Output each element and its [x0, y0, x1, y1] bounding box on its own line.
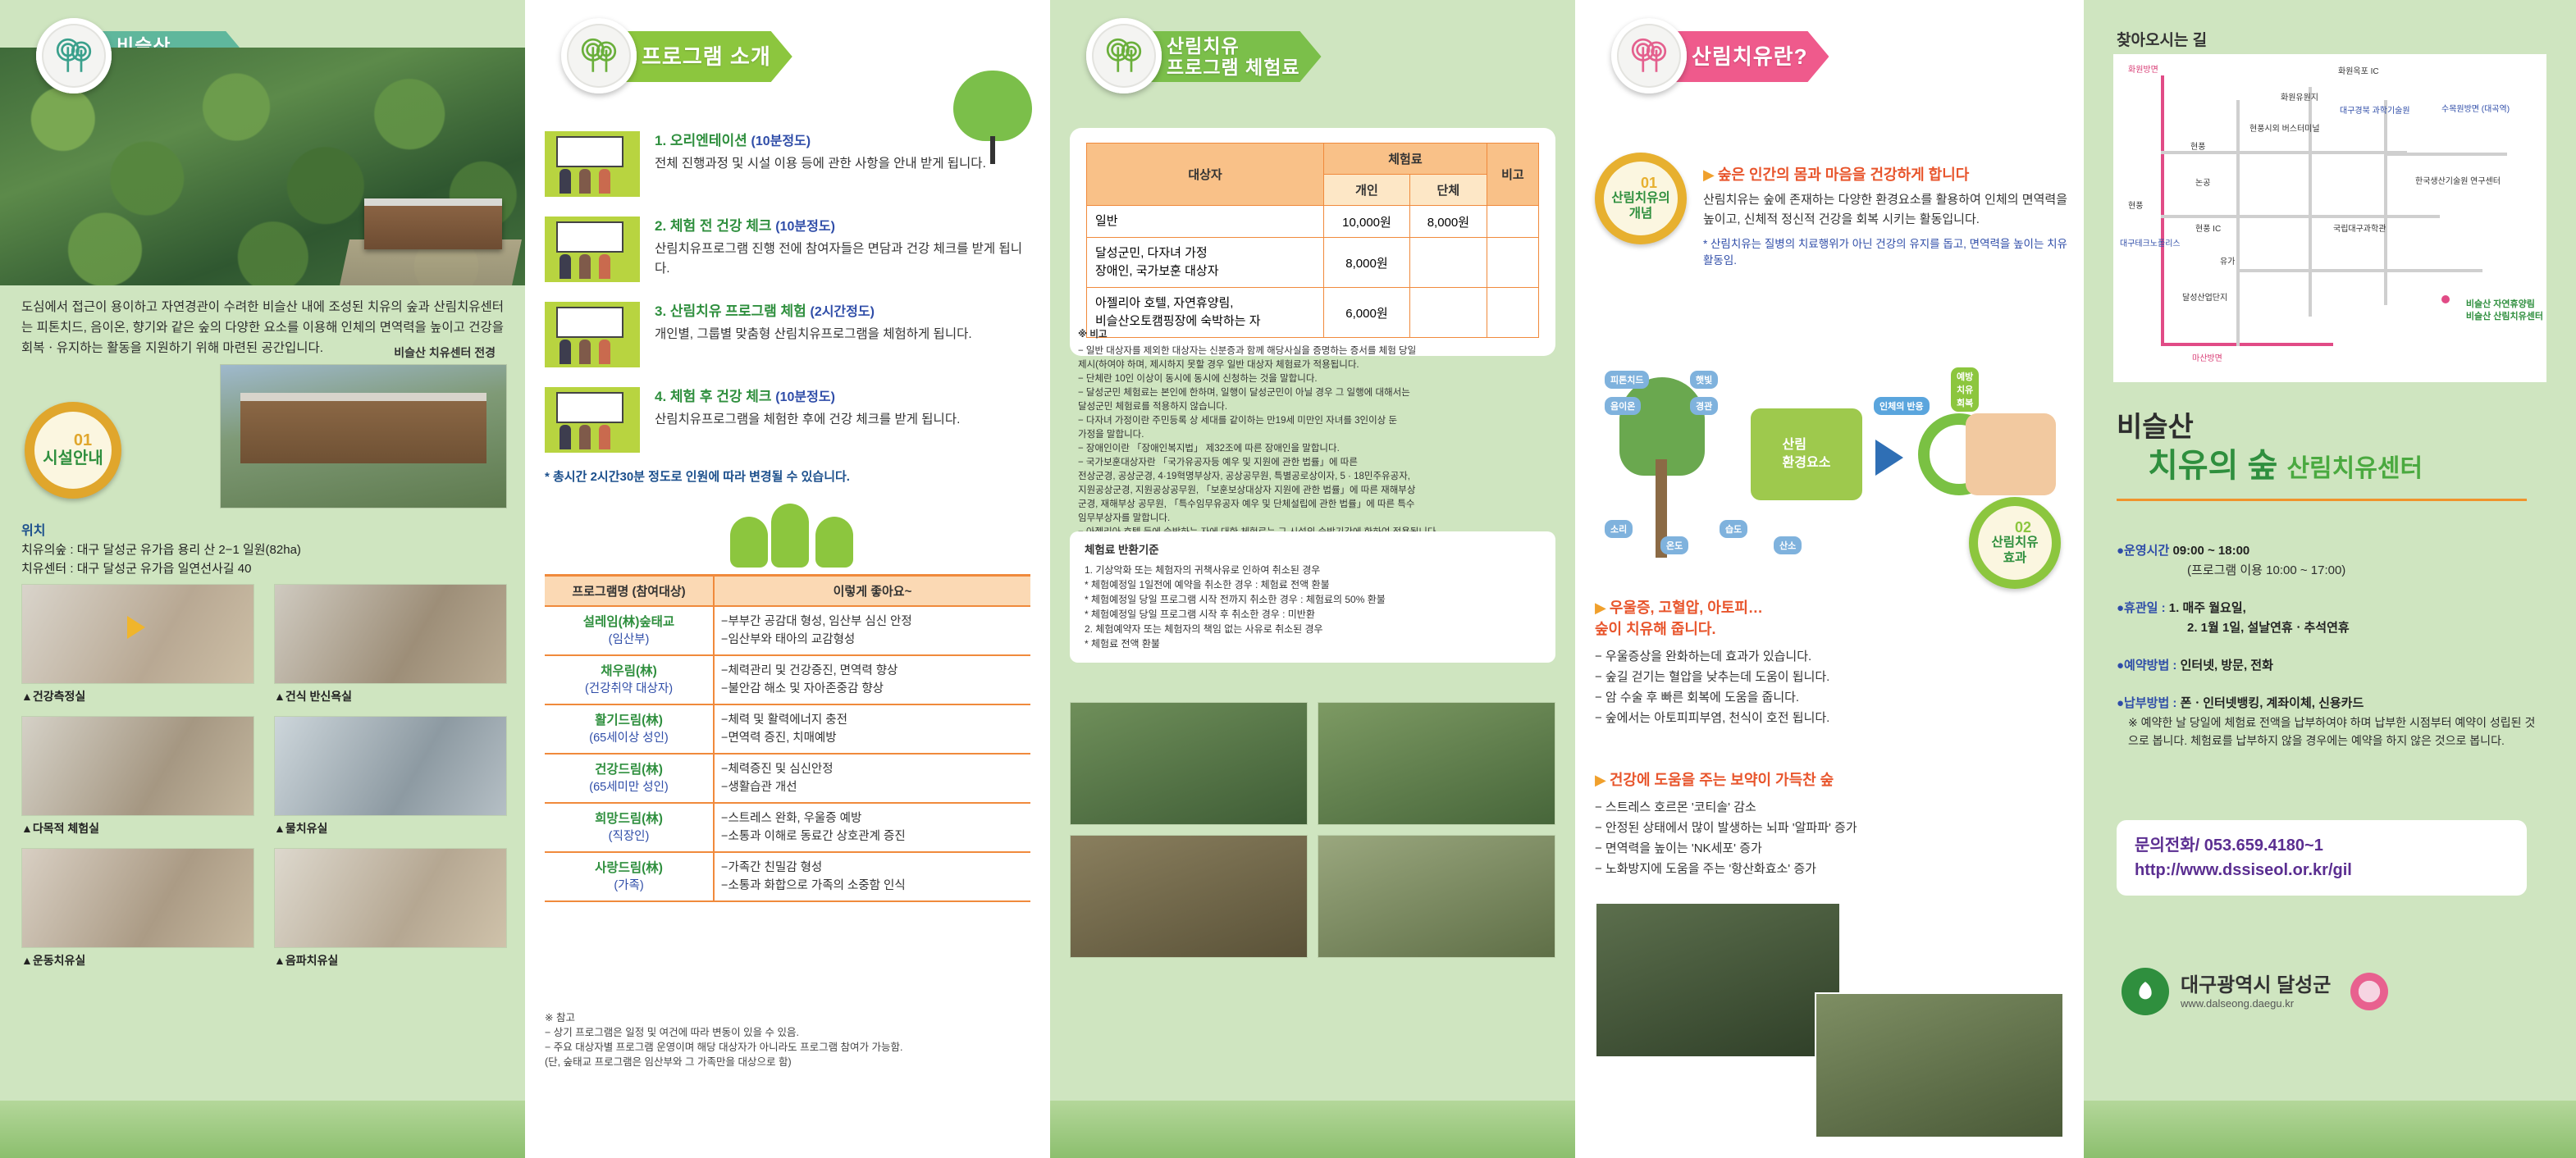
effect1-heading: 우울증, 고혈압, 아토피… 숲이 치유해 줍니다. [1595, 600, 1763, 637]
contact-box: 문의전화/ 053.659.4180~1 http://www.dssiseol… [2117, 820, 2527, 896]
step-title: 1. 오리엔테이션 [655, 133, 747, 148]
list-item: ▲운동치유실 [21, 848, 254, 969]
hours-value: 09:00 ~ 18:00 [2172, 544, 2249, 558]
program-benefits: −가족간 친밀감 형성 −소통과 화합으로 가족의 소중함 인식 [714, 852, 1030, 901]
step-duration: (2시간정도) [810, 305, 874, 319]
refund-line: * 체험예정일 당일 프로그램 시작 전까지 취소한 경우 : 체험료의 50%… [1085, 592, 1541, 607]
step-body: 개인별, 그룹별 맞춤형 산림치유프로그램을 체험하게 됩니다. [655, 325, 1030, 344]
panel3-header: 산림치유 프로그램 체험료 [1050, 15, 1575, 93]
panel3-title-line1: 산림치유 [1167, 35, 1300, 57]
photo-water-therapy-room [274, 716, 507, 816]
step-illustration-health-check [545, 217, 640, 282]
program-name: 건강드림(林) [551, 761, 706, 779]
list-item: 3. 산림치유 프로그램 체험 (2시간정도) 개인별, 그룹별 맞춤형 산림치… [545, 302, 1030, 367]
fee-header-group: 단체 [1409, 175, 1487, 206]
center-building [364, 198, 502, 249]
facility-photo-caption: 비슬산 치유센터 전경 [394, 344, 496, 361]
hours-sub: (프로그램 이용 10:00 ~ 17:00) [2117, 561, 2543, 581]
photo-caption: ▲음파치유실 [274, 952, 507, 969]
map-label: 화원옥포 IC [2338, 64, 2379, 76]
note-line: − 다자녀 가정이란 주민등록 상 세대를 같이하는 만19세 미만인 자녀를 … [1078, 414, 1551, 428]
concept-note: * 산림치유는 질병의 치료행위가 아닌 건강의 유지를 돕고, 면역력을 높이… [1703, 236, 2067, 269]
table-row: 채우림(林) (건강취약 대상자) −체력관리 및 건강증진, 면역력 향상 −… [545, 655, 1030, 704]
panel2-title: 프로그램 소개 [642, 31, 771, 82]
note-line: − 단체란 10인 이상이 동시에 동시에 신청하는 것을 말합니다. [1078, 372, 1551, 386]
chip-label: 산소 [1774, 536, 1802, 554]
program-steps-list: 1. 오리엔테이션 (10분정도) 전체 진행과정 및 시설 이용 등에 관한 … [545, 131, 1030, 472]
panel4-title: 산림치유란? [1692, 31, 1807, 82]
chip-label: 소리 [1605, 520, 1633, 538]
refund-policy-box: 체험료 반환기준 1. 기상악화 또는 체험자의 귀책사유로 인하여 취소된 경… [1070, 531, 1555, 663]
payment-label: ●납부방법 : [2117, 696, 2176, 710]
note-line: 가정을 말합니다. [1078, 428, 1551, 442]
step-illustration-post-check [545, 387, 640, 453]
map-label: 대구경북 과학기술원 [2340, 103, 2410, 116]
effect2-item: − 스트레스 호르몬 '코티솔' 감소 [1595, 797, 2021, 818]
flower-mascot-icon [2350, 973, 2388, 1010]
activity-photo [1070, 702, 1308, 825]
booking-value: 인터넷, 방문, 전화 [2181, 659, 2273, 672]
program-name: 활기드림(林) [551, 712, 706, 730]
effect1-item: − 숲에서는 아토피피부염, 천식이 호전 됩니다. [1595, 708, 1939, 728]
table-header-benefit: 이렇게 좋아요~ [714, 576, 1030, 607]
step-illustration-forest-program [545, 302, 640, 367]
list-item: 4. 체험 후 건강 체크 (10분정도) 산림치유프로그램을 체험한 후에 건… [545, 387, 1030, 453]
program-target: (직장인) [551, 828, 706, 846]
table-row: 건강드림(林) (65세미만 성인) −체력증진 및 심신안정 −생활습관 개선 [545, 754, 1030, 803]
list-item: ▲다목적 체험실 [21, 716, 254, 837]
chip-label: 햇빛 [1690, 371, 1718, 389]
infographic-reaction-label: 인체의 반응 [1874, 397, 1930, 415]
booking-label: ●예약방법 : [2117, 659, 2176, 672]
map-label: 현풍 [2128, 198, 2143, 211]
chip-label: 피톤치드 [1605, 371, 1649, 389]
brand-line2: 치유의 숲 [2148, 448, 2277, 484]
note-line: 지원공상군경, 지원공상공무원, 「보훈보상대상자 지원에 관한 법률」에 따른… [1078, 484, 1551, 498]
government-logo: 대구광역시 달성군 www.dalseong.daegu.kr [2122, 968, 2388, 1015]
table-row: 일반 10,000원 8,000원 [1087, 206, 1539, 238]
map-label: 국립대구과학관 [2333, 221, 2386, 234]
closed-label: ●휴관일 : [2117, 601, 2166, 615]
divider [2117, 499, 2527, 501]
photo-exercise-therapy-room [21, 848, 254, 948]
contact-phone[interactable]: 문의전화/ 053.659.4180~1 [2135, 833, 2509, 858]
list-item: 1. 오리엔테이션 (10분정도) 전체 진행과정 및 시설 이용 등에 관한 … [545, 131, 1030, 197]
note-line: − 장애인이란 「장애인복지법」 제32조에 따른 장애인을 말합니다. [1078, 442, 1551, 456]
brand-line1: 비슬산 [2117, 410, 2527, 445]
map-label: 수목원방면 (대곡역) [2441, 102, 2510, 114]
map-label: 달성산업단지 [2182, 290, 2227, 303]
tree-logo-icon [36, 18, 112, 93]
program-name: 채우림(林) [551, 663, 706, 681]
effect2-heading: 건강에 도움을 주는 보약이 가득찬 숲 [1610, 772, 1834, 788]
map-label: 현풍 IC [2195, 221, 2221, 234]
fee-individual: 8,000원 [1324, 238, 1410, 288]
photo-multipurpose-room [21, 716, 254, 816]
triangle-bullet-icon: ▶ [1595, 600, 1606, 616]
activity-photo [1318, 835, 1555, 958]
map-label: 현풍시외 버스터미널 [2249, 121, 2320, 134]
map-label: 화원방면 [2128, 62, 2158, 75]
badge-effect: 02 산림치유 효과 [1969, 497, 2061, 595]
fee-header-remark: 비고 [1487, 144, 1538, 206]
effect1-item: − 우울증상을 완화하는데 효과가 있습니다. [1595, 646, 1939, 667]
bottom-hill-decoration [0, 1101, 525, 1158]
gov-name: 대구광역시 달성군 [2181, 974, 2331, 997]
refund-line: 2. 체험예약자 또는 체험자의 책임 없는 사유로 취소된 경우 [1085, 622, 1541, 636]
location-line-2: 치유센터 : 대구 달성군 유가읍 일연선사길 40 [21, 559, 301, 578]
step-duration: (10분정도) [751, 134, 811, 148]
note-line: 군경, 재해부상 공무원, 「특수임무유공자 예우 및 단체설립에 관한 법률」… [1078, 498, 1551, 512]
note-line: (단, 숲태교 프로그램은 임산부와 그 가족만을 대상으로 함) [545, 1055, 1030, 1069]
map-label: 화원유원지 [2281, 90, 2318, 103]
road-line [2161, 215, 2440, 218]
triangle-bullet-icon: ▶ [1595, 772, 1606, 788]
program-photo [1815, 992, 2064, 1138]
arrow-icon [1875, 440, 1903, 476]
map-destination-line2: 비슬산 산림치유센터 [2466, 312, 2543, 321]
badge-facility-info: 01 시설안내 [25, 402, 121, 505]
effect2-item: − 안정된 상태에서 많이 발생하는 뇌파 '알파파' 증가 [1595, 818, 2021, 838]
map-label: 현풍 [2190, 139, 2205, 152]
table-row: 설레임(林)숲태교 (임산부) −부부간 공감대 형성, 임산부 심신 안정 −… [545, 606, 1030, 655]
step-title: 2. 체험 전 건강 체크 [655, 218, 772, 234]
fee-group: 8,000원 [1409, 206, 1487, 238]
family-illustration [1966, 413, 2056, 495]
infographic-center-label: 산림 환경요소 [1751, 408, 1862, 500]
program-name: 사랑드림(林) [551, 859, 706, 878]
brand-block: 비슬산 치유의 숲 산림치유센터 [2117, 410, 2527, 501]
tree-logo-icon [1086, 18, 1162, 93]
fee-remark [1487, 206, 1538, 238]
refund-line: * 체험예정일 1일전에 예약을 취소한 경우 : 체험료 전액 환불 [1085, 577, 1541, 592]
panel-intro: 비슬산 치유의 숲은? 도심에서 접근이 용이하고 자연경관이 수려한 비슬산 … [0, 0, 525, 1158]
payment-note: ※ 예약한 날 당일에 체험료 전액을 납부하여야 하며 납부한 시점부터 예약… [2117, 713, 2543, 750]
fee-remark [1487, 238, 1538, 288]
concept-body: 산림치유는 숲에 존재하는 다양한 환경요소를 활용하여 인체의 면역력을 높이… [1703, 190, 2067, 230]
map-destination-line1: 비슬산 자연휴양림 [2466, 299, 2535, 309]
road-line [2384, 100, 2387, 305]
fee-target: 달성군민, 다자녀 가정 장애인, 국가보훈 대상자 [1087, 238, 1324, 288]
panel-program-intro: 프로그램 소개 1. 오리엔테이션 (10분정도) 전체 진행과정 및 시설 이 [525, 0, 1050, 1158]
badge-label-line1: 산림치유 [1991, 535, 2038, 550]
step-duration: (10분정도) [775, 390, 835, 404]
tree-logo-icon [561, 18, 637, 93]
program-target: (건강취약 대상자) [551, 681, 706, 698]
payment-value: 폰ㆍ인터넷뱅킹, 계좌이체, 신용카드 [2181, 696, 2364, 710]
refund-line: * 체험료 전액 환불 [1085, 636, 1541, 651]
program-name: 설레임(林)숲태교 [551, 613, 706, 631]
program-benefits-table: 프로그램명 (참여대상) 이렇게 좋아요~ 설레임(林)숲태교 (임산부) −부… [545, 574, 1030, 902]
gov-url: www.dalseong.daegu.kr [2181, 997, 2331, 1010]
tree-logo-icon [1611, 18, 1687, 93]
refund-title: 체험료 반환기준 [1085, 543, 1541, 558]
concept-section: ▶숲은 인간의 몸과 마음을 건강하게 합니다 산림치유는 숲에 존재하는 다양… [1703, 164, 2067, 269]
location-block: 위치 치유의숲 : 대구 달성군 유가읍 용리 산 2−1 일원(82ha) 치… [21, 522, 301, 578]
step-body: 산림치유프로그램 진행 전에 참여자들은 면담과 건강 체크를 받게 됩니다. [655, 239, 1030, 279]
total-time-note: * 총시간 2시간30분 정도로 인원에 따라 변경될 수 있습니다. [545, 467, 1030, 485]
chip-label: 습도 [1720, 520, 1747, 538]
closed-line1: 1. 매주 월요일, [2169, 601, 2246, 615]
program-target: (65세이상 성인) [551, 730, 706, 747]
effect-section-2: ▶건강에 도움을 주는 보약이 가득찬 숲 − 스트레스 호르몬 '코티솔' 감… [1595, 769, 2021, 879]
badge-label-line2: 개념 [1629, 206, 1653, 221]
program-photo [1595, 902, 1841, 1058]
center-info-block: ●운영시간 09:00 ~ 18:00 (프로그램 이용 10:00 ~ 17:… [2117, 541, 2543, 768]
step-illustration-orientation [545, 131, 640, 197]
map-label: 유가 [2220, 254, 2235, 267]
program-name: 희망드림(林) [551, 810, 706, 828]
note-line: ※ 참고 [545, 1010, 1030, 1025]
contact-url[interactable]: http://www.dssiseol.or.kr/gil [2135, 858, 2509, 882]
photo-caption: ▲건강측정실 [21, 688, 254, 704]
map-label: 마산방면 [2192, 351, 2222, 363]
badge-number: 01 [74, 432, 92, 449]
hours-label: ●운영시간 [2117, 544, 2169, 558]
directions-map: 화원방면 화원옥포 IC 화원유원지 현풍시외 버스터미널 대구경북 과학기술원… [2113, 54, 2546, 382]
note-line: − 일반 대상자를 제외한 대상자는 신분증과 함께 해당사실을 증명하는 증서… [1078, 344, 1551, 358]
program-benefits: −스트레스 완화, 우울증 예방 −소통과 이해로 동료간 상호관계 증진 [714, 803, 1030, 852]
badge-label-line1: 산림치유의 [1611, 190, 1669, 206]
road-line [2236, 100, 2240, 346]
step-title: 3. 산림치유 프로그램 체험 [655, 303, 806, 319]
highway-line [2161, 75, 2164, 346]
photo-sound-therapy-room [274, 848, 507, 948]
fee-table: 대상자 체험료 비고 개인 단체 일반 10,000원 8,000원 [1086, 143, 1539, 338]
triangle-bullet-icon: ▶ [1703, 166, 1715, 183]
map-pin-icon [2441, 295, 2450, 303]
bottom-hill-decoration [2084, 1101, 2576, 1158]
table-row: 달성군민, 다자녀 가정 장애인, 국가보훈 대상자 8,000원 [1087, 238, 1539, 288]
program-notes: ※ 참고 − 상기 프로그램은 일정 및 여건에 따라 변동이 있을 수 있음.… [545, 1010, 1030, 1069]
brand-line2-sub: 산림치유센터 [2286, 455, 2423, 482]
program-benefits: −체력관리 및 건강증진, 면역력 향상 −불안감 해소 및 자아존중감 향상 [714, 655, 1030, 704]
note-line: 제시(하여야 하며, 제시하지 못할 경우 일반 대상자 체험료가 적용됩니다. [1078, 358, 1551, 372]
infographic-result-label: 예방 치유 회복 [1951, 367, 1979, 412]
photo-health-measurement-room [21, 584, 254, 684]
trees-decoration [730, 492, 878, 568]
step-body: 산림치유프로그램을 체험한 후에 건강 체크를 받게 됩니다. [655, 410, 1030, 430]
fee-target: 일반 [1087, 206, 1324, 238]
play-icon [127, 616, 145, 639]
program-benefits: −부부간 공감대 형성, 임산부 심신 안정 −임산부와 태아의 교감형성 [714, 606, 1030, 655]
panel4-header: 산림치유란? [1575, 15, 2084, 93]
effect2-item: − 노화방지에 도움을 주는 '항산화효소' 증가 [1595, 859, 2021, 879]
fee-group [1409, 238, 1487, 288]
chip-label: 온도 [1660, 536, 1688, 554]
chip-label: 경관 [1690, 397, 1718, 415]
program-benefits: −체력 및 활력에너지 충전 −면역력 증진, 치매예방 [714, 704, 1030, 754]
note-line: − 국가보훈대상자란 「국가유공자등 예우 및 지원에 관한 법률」에 따른 [1078, 456, 1551, 470]
badge-number: 01 [1641, 176, 1657, 190]
table-row: 사랑드림(林) (가족) −가족간 친밀감 형성 −소통과 화합으로 가족의 소… [545, 852, 1030, 901]
road-line [2384, 153, 2507, 156]
badge-concept: 01 산림치유의 개념 [1595, 153, 1687, 251]
map-label: 논공 [2195, 176, 2210, 188]
effect1-item: − 숲길 걷기는 혈압을 낮추는데 도움이 됩니다. [1595, 667, 1939, 687]
effect2-item: − 면역력을 높이는 'NK세포' 증가 [1595, 838, 2021, 859]
list-item: ▲음파치유실 [274, 848, 507, 969]
map-label: 대구테크노폴리스 [2120, 236, 2181, 248]
panel-contact-map: 찾아오시는 길 화원방면 화원옥포 IC 화원유원지 현풍시외 버스터미널 대구… [2084, 0, 2576, 1158]
effect1-item: − 암 수술 후 빠른 회복에 도움을 줍니다. [1595, 687, 1939, 708]
facility-photo-grid: ▲건강측정실 ▲건식 반신욕실 ▲다목적 체험실 ▲물치유실 ▲운동치유실 ▲음… [21, 584, 507, 969]
closed-line2: 2. 1월 1일, 설날연휴ㆍ추석연휴 [2187, 621, 2350, 635]
activity-photo [1070, 835, 1308, 958]
table-row: 활기드림(林) (65세이상 성인) −체력 및 활력에너지 충전 −면역력 증… [545, 704, 1030, 754]
panel-what-is-forest-therapy: 산림치유란? 01 산림치유의 개념 ▶숲은 인간의 몸과 마음을 건강하게 합… [1575, 0, 2084, 1158]
effect-section-1: ▶우울증, 고혈압, 아토피… 숲이 치유해 줍니다. − 우울증상을 완화하는… [1595, 597, 1939, 728]
road-line [2236, 269, 2482, 272]
activity-photo-grid [1070, 702, 1555, 958]
badge-label-line2: 효과 [2003, 550, 2027, 566]
badge-number: 02 [2015, 520, 2031, 535]
note-line: ※ 비고 [1078, 328, 1551, 342]
location-line-1: 치유의숲 : 대구 달성군 유가읍 용리 산 2−1 일원(82ha) [21, 540, 301, 559]
refund-line: 1. 기상악화 또는 체험자의 귀책사유로 인하여 취소된 경우 [1085, 563, 1541, 577]
map-label: 한국생산기술원 연구센터 [2415, 174, 2501, 186]
note-line: − 달성군민 체험료는 본인에 한하며, 일행이 달성군민이 아닐 경우 그 일… [1078, 386, 1551, 400]
step-body: 전체 진행과정 및 시설 이용 등에 관한 사항을 안내 받게 됩니다. [655, 154, 1030, 174]
note-line: − 주요 대상자별 프로그램 운영이며 해당 대상자가 아니라도 프로그램 참여… [545, 1040, 1030, 1055]
location-title: 위치 [21, 522, 301, 540]
program-target: (65세미만 성인) [551, 779, 706, 796]
photo-caption: ▲건식 반신욕실 [274, 688, 507, 704]
program-target: (가족) [551, 878, 706, 895]
fee-header-individual: 개인 [1324, 175, 1410, 206]
photo-caption: ▲운동치유실 [21, 952, 254, 969]
step-title: 4. 체험 후 건강 체크 [655, 389, 772, 404]
photo-caption: ▲다목적 체험실 [21, 820, 254, 837]
program-target: (임산부) [551, 631, 706, 649]
step-duration: (10분정도) [775, 220, 835, 234]
fee-header-fee: 체험료 [1324, 144, 1487, 175]
photo-dry-half-bath-room [274, 584, 507, 684]
refund-line: * 체험예정일 당일 프로그램 시작 후 취소한 경우 : 미반환 [1085, 607, 1541, 622]
note-line: − 상기 프로그램은 일정 및 여건에 따라 변동이 있을 수 있음. [545, 1025, 1030, 1040]
panel3-title-line2: 프로그램 체험료 [1167, 57, 1300, 78]
program-benefits: −체력증진 및 심신안정 −생활습관 개선 [714, 754, 1030, 803]
map-title: 찾아오시는 길 [2117, 28, 2207, 50]
panel-fees: 산림치유 프로그램 체험료 대상자 체험료 비고 [1050, 0, 1575, 1158]
fee-table-card: 대상자 체험료 비고 개인 단체 일반 10,000원 8,000원 [1070, 128, 1555, 356]
facility-photo [220, 364, 507, 508]
fee-individual: 10,000원 [1324, 206, 1410, 238]
note-line: 달성군민 체험료를 적용하지 않습니다. [1078, 400, 1551, 414]
chip-label: 음이온 [1605, 397, 1641, 415]
note-line: 임무부상자를 말합니다. [1078, 512, 1551, 526]
note-line: 전상군경, 공상군경, 4·19혁명부상자, 공상공무원, 특별공로상이자, 5… [1078, 470, 1551, 484]
dalseong-emblem-icon [2122, 968, 2169, 1015]
badge-label: 시설안내 [43, 449, 103, 468]
list-item: ▲건식 반신욕실 [274, 584, 507, 704]
bottom-hill-decoration [1050, 1101, 1575, 1158]
list-item: ▲건강측정실 [21, 584, 254, 704]
concept-heading: 숲은 인간의 몸과 마음을 건강하게 합니다 [1718, 166, 1970, 183]
list-item: ▲물치유실 [274, 716, 507, 837]
program-photo-group [1595, 902, 2064, 1140]
brochure-sheet: 비슬산 치유의 숲은? 도심에서 접근이 용이하고 자연경관이 수려한 비슬산 … [0, 0, 2576, 1158]
table-row: 희망드림(林) (직장인) −스트레스 완화, 우울증 예방 −소통과 이해로 … [545, 803, 1030, 852]
activity-photo [1318, 702, 1555, 825]
fee-header-target: 대상자 [1087, 144, 1324, 206]
list-item: 2. 체험 전 건강 체크 (10분정도) 산림치유프로그램 진행 전에 참여자… [545, 217, 1030, 282]
photo-caption: ▲물치유실 [274, 820, 507, 837]
table-header-program: 프로그램명 (참여대상) [545, 576, 714, 607]
highway-line [2161, 343, 2333, 346]
